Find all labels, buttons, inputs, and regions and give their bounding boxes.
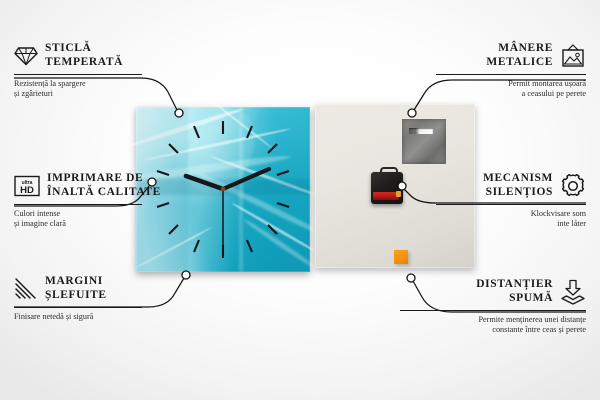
callout-imprimare-inalta-calitate: ultra HD IMPRIMARE DE ÎNALTĂ CALITATE Cu… [14, 172, 184, 229]
callout-subtitle-line1: Klockvisare som [411, 209, 586, 219]
ultra-hd-icon: ultra HD [14, 175, 40, 197]
callout-subtitle-line1: Permit montarea ușoară [416, 79, 586, 89]
callout-subtitle-line2: a ceasului pe perete [416, 89, 586, 99]
callout-title-line1: MARGINI [45, 275, 107, 289]
callout-margini-slefuite: MARGINI ȘLEFUITE Finisare netedă și sigu… [14, 275, 184, 322]
callout-title-line1: STICLĂ [45, 42, 123, 56]
callout-subtitle-line1: Rezistență la spargere [14, 79, 174, 89]
callout-manere-metalice: MÂNERE METALICE Permit montarea ușoară a… [416, 42, 586, 99]
callout-title-line2: TEMPERATĂ [45, 56, 123, 70]
callout-title-line1: MECANISM [483, 172, 553, 186]
hanging-frame-icon [560, 44, 586, 68]
callout-title-line2: ȘLEFUITE [45, 289, 107, 303]
diamond-icon [14, 46, 38, 66]
callout-title-line1: IMPRIMARE DE [47, 172, 161, 186]
diagonal-lines-icon [14, 278, 38, 300]
down-arrow-stack-icon [560, 279, 586, 305]
callout-subtitle-line1: Culori intense [14, 209, 184, 219]
callout-subtitle-line2: și imagine clară [14, 219, 184, 229]
callout-subtitle-line1: Finisare netedă și sigură [14, 312, 184, 322]
callout-subtitle-line1: Permite menținerea unei distanțe [386, 315, 586, 325]
callout-sticla-temperata: STICLĂ TEMPERATĂ Rezistență la spargere … [14, 42, 174, 99]
callout-subtitle-line2: constante între ceas și perete [386, 325, 586, 335]
callout-title-line2: SILENȚIOS [483, 186, 553, 200]
callout-mecanism-silentios: MECANISM SILENȚIOS Klockvisare som inte … [411, 172, 586, 229]
gear-icon [560, 173, 586, 199]
callout-title-line1: MÂNERE [486, 42, 553, 56]
callout-title-line2: ÎNALTĂ CALITATE [47, 186, 161, 200]
svg-text:HD: HD [20, 185, 34, 196]
callout-distantier-spuma: DISTANȚIER SPUMĂ Permite menținerea unei… [386, 278, 586, 335]
callout-subtitle-line2: inte låter [411, 219, 586, 229]
callout-title-line2: SPUMĂ [476, 292, 553, 306]
callout-subtitle-line2: și zgârieturi [14, 89, 174, 99]
callout-title-line2: METALICE [486, 56, 553, 70]
callout-title-line1: DISTANȚIER [476, 278, 553, 292]
infographic-canvas: STICLĂ TEMPERATĂ Rezistență la spargere … [0, 0, 600, 400]
